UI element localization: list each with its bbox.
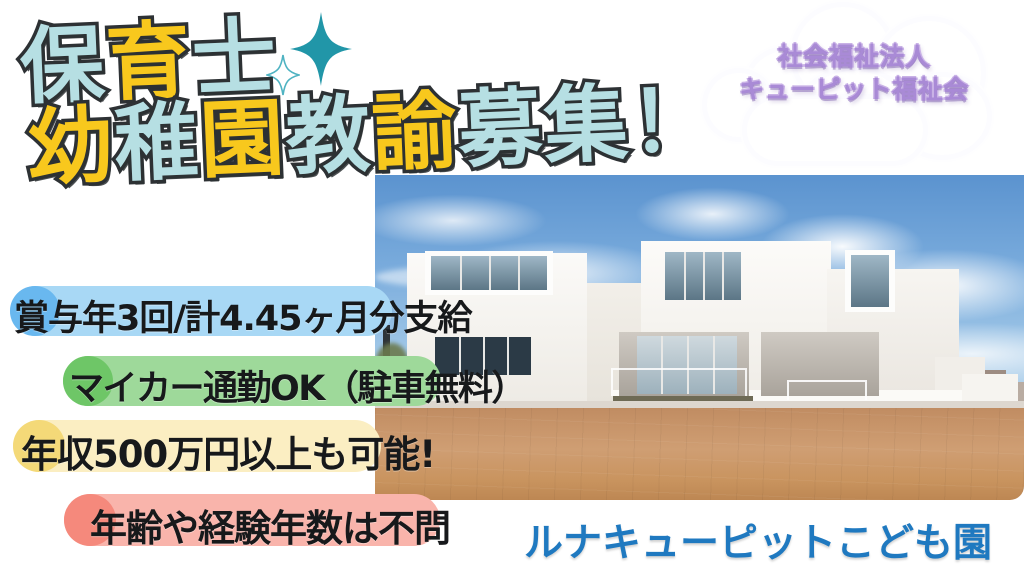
headline-char: 教 xyxy=(284,92,373,180)
headline-char: 募集 xyxy=(456,81,631,172)
headline-char: 稚 xyxy=(112,99,201,187)
feature-label-salary: 年収500万円以上も可能! xyxy=(21,424,435,478)
organization-badge: 社会福祉法人 キューピット福祉会 xyxy=(684,0,1024,172)
org-line-2: キューピット福祉会 xyxy=(684,73,1024,106)
courtyard-paving xyxy=(375,408,1024,500)
headline-char: 園 xyxy=(198,96,287,184)
org-line-1: 社会福祉法人 xyxy=(684,40,1024,73)
feature-label-bonus: 賞与年3回/計4.45ヶ月分支給 xyxy=(14,290,472,341)
feature-label-experience: 年齢や経験年数は不問 xyxy=(90,498,450,552)
window-glass xyxy=(665,252,741,300)
headline-char: 保 xyxy=(18,22,107,110)
school-name: ルナキューピットこども園 xyxy=(524,512,992,568)
carport-railing xyxy=(787,380,867,400)
headline-char: 幼 xyxy=(27,103,116,191)
kindergarten-photo xyxy=(375,175,1024,500)
feature-label-commute: マイカー通勤OK（駐車無料） xyxy=(69,360,525,411)
organization-badge-text: 社会福祉法人 キューピット福祉会 xyxy=(684,40,1024,106)
window-glass xyxy=(431,256,547,290)
headline-line-2: 幼稚園教諭募集！ xyxy=(27,78,718,191)
headline-line-1: 保育士 xyxy=(18,15,279,110)
terrace-railing xyxy=(611,368,747,396)
headline-char: 育 xyxy=(104,18,193,106)
sparkle-small-icon xyxy=(266,54,300,96)
page-title: 保育士 幼稚園教諭募集！ xyxy=(6,14,706,174)
window-glass xyxy=(851,255,889,307)
headline-char: 諭 xyxy=(370,88,459,176)
recruitment-poster: 社会福祉法人 キューピット福祉会 保育士 幼稚園教諭募集！ 賞与年3回/計4.4… xyxy=(0,0,1024,576)
